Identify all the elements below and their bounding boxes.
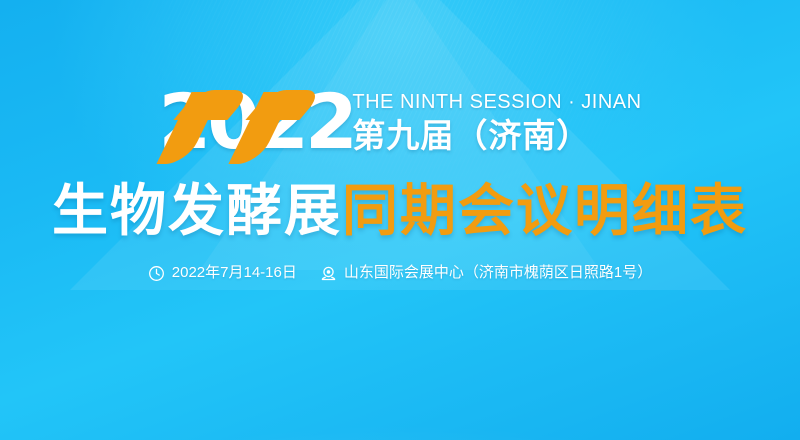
event-banner: 2022 THE NINTH SESSION · JINAN 第九届（济南） 生… [0,0,800,440]
headline-orange-part: 同期会议明细表 [342,179,748,242]
logo-text-block: THE NINTH SESSION · JINAN 第九届（济南） [352,88,641,156]
logo-row: 2022 THE NINTH SESSION · JINAN 第九届（济南） [0,88,800,160]
event-date: 2022年7月14-16日 [172,263,297,283]
chinese-subtitle: 第九届（济南） [352,116,641,156]
clock-icon [148,265,165,282]
event-info-line: 2022年7月14-16日 山东国际会展中心（济南市槐荫区日照路1号） [0,263,800,283]
english-title: THE NINTH SESSION · JINAN [352,90,641,114]
headline-white-part: 生物发酵展 [52,179,342,242]
event-venue: 山东国际会展中心（济南市槐荫区日照路1号） [344,263,652,283]
background-bottom-glow [0,270,800,440]
year-text: 2022 [158,84,354,160]
page-title: 生物发酵展同期会议明细表 [0,178,800,244]
year-logo: 2022 [158,88,338,160]
location-pin-icon [320,265,337,282]
